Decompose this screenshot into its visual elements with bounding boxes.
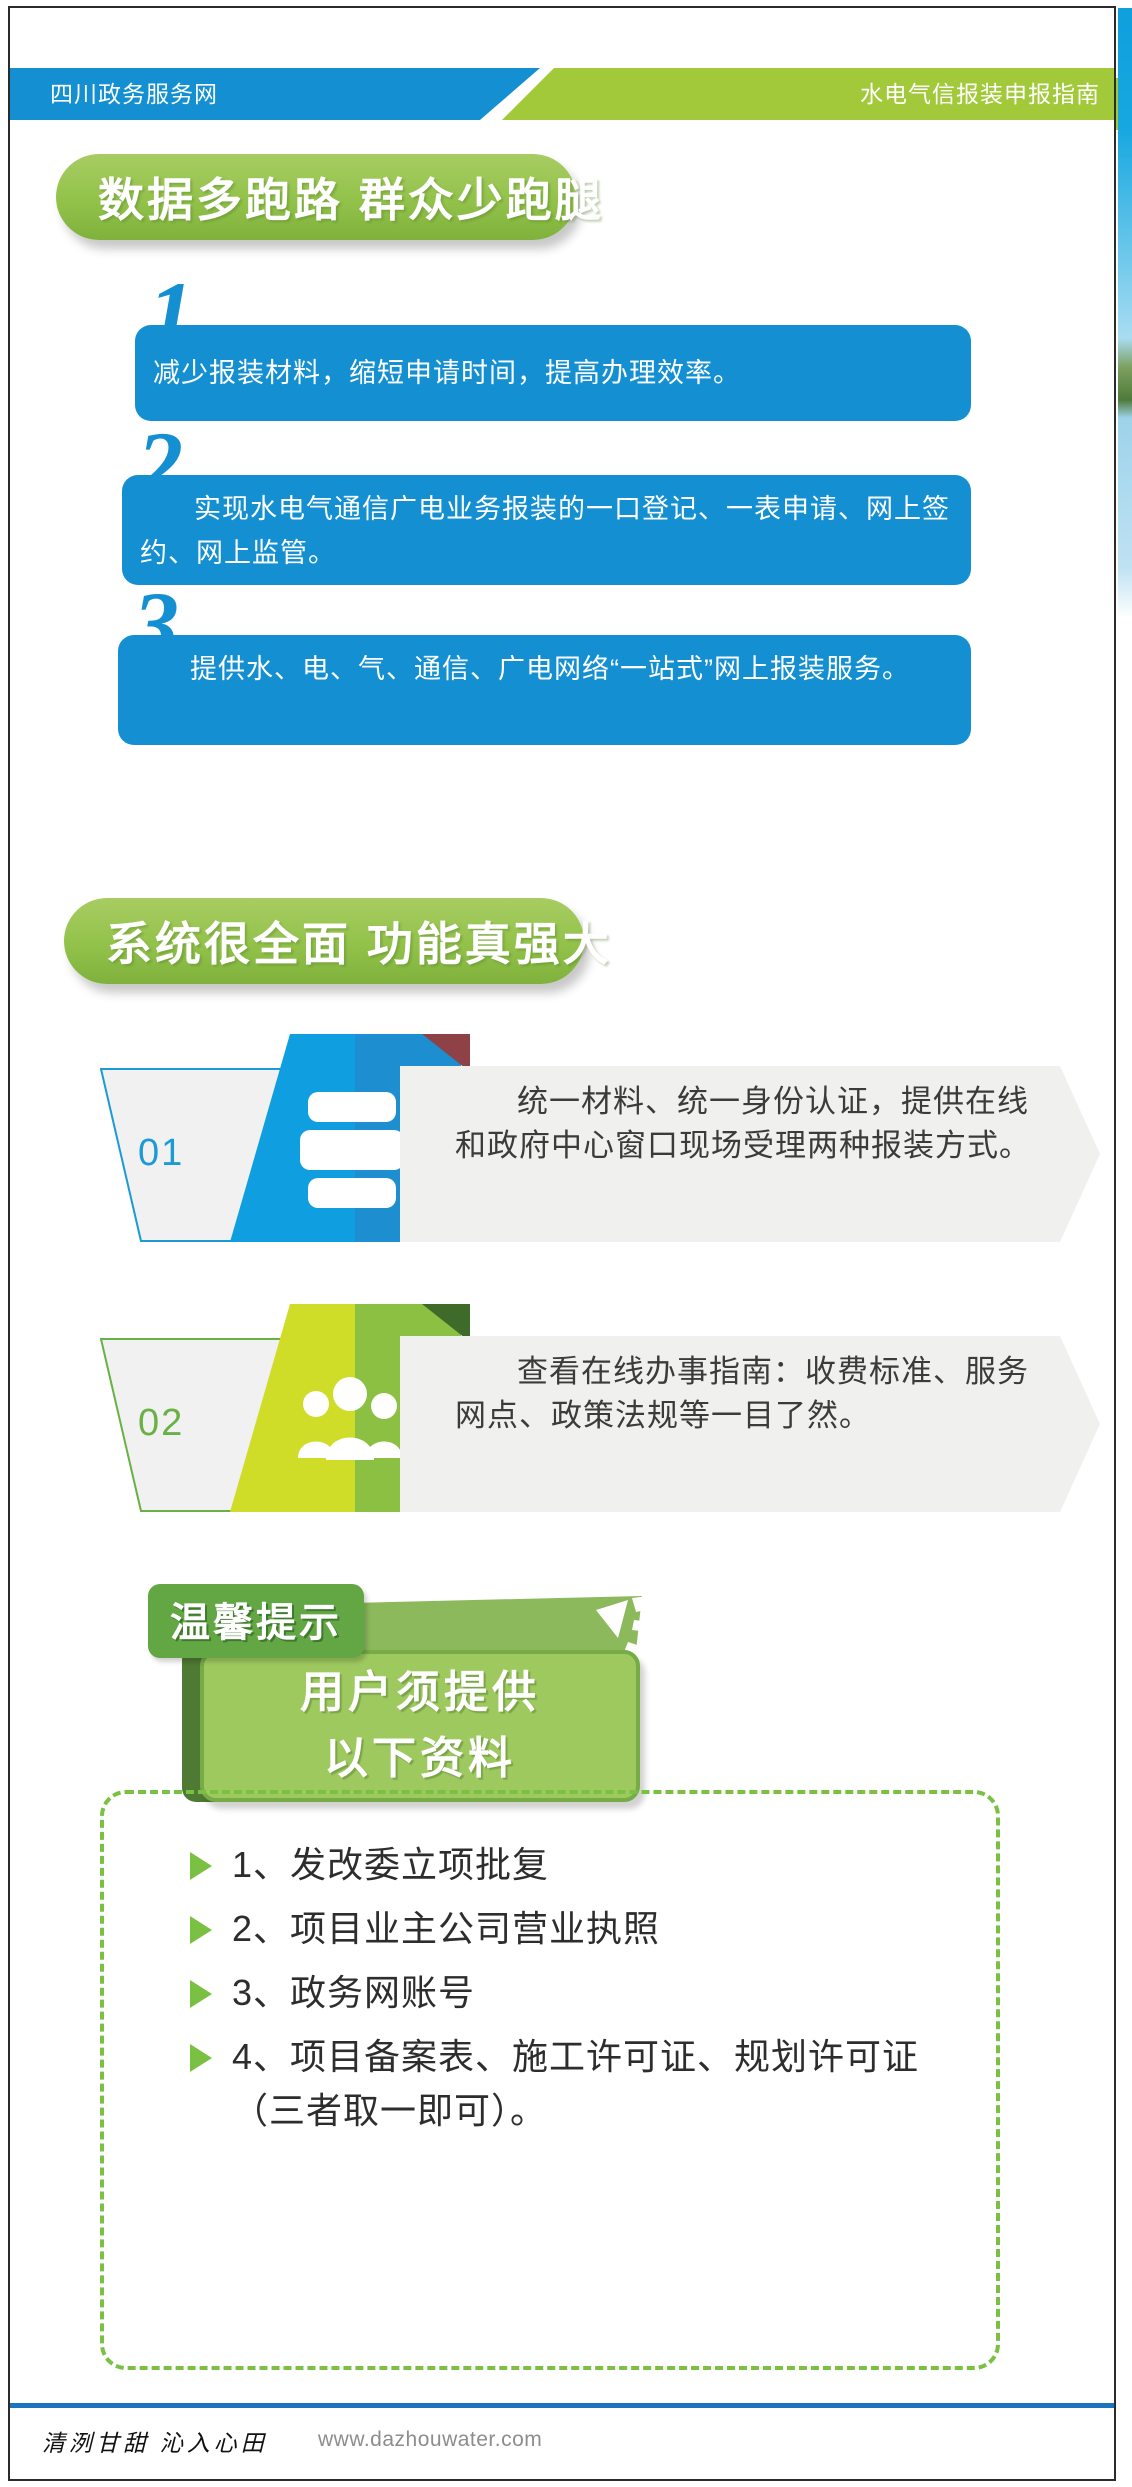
adjacent-page-sliver — [1118, 8, 1132, 768]
section-two-heading-text: 系统很全面 功能真强大 — [64, 908, 612, 974]
requirements-list: 1、发改委立项批复 2、项目业主公司营业执照 3、政务网账号 4、项目备案表、施… — [190, 1838, 980, 2148]
list-item: 1、发改委立项批复 — [190, 1838, 980, 1892]
stacked-bars-icon — [292, 1092, 412, 1210]
bullet-arrow-icon — [190, 1980, 212, 2008]
feature-box-1: 减少报装材料，缩短申请时间，提高办理效率。 — [135, 325, 971, 421]
section-two-heading: 系统很全面 功能真强大 — [64, 898, 584, 984]
tip-panel: 用户须提供 以下资料 — [200, 1650, 640, 1802]
card-02-text: 查看在线办事指南：收费标准、服务网点、政策法规等一目了然。 — [455, 1350, 1035, 1438]
header-site-name: 四川政务服务网 — [50, 68, 218, 120]
feature-box-2: 实现水电气通信广电业务报装的一口登记、一表申请、网上签约、网上监管。 — [122, 475, 971, 585]
section-one-heading: 数据多跑路 群众少跑腿 — [56, 154, 576, 240]
list-item: 2、项目业主公司营业执照 — [190, 1902, 980, 1956]
header-guide-title: 水电气信报装申报指南 — [860, 68, 1100, 120]
people-group-icon — [296, 1374, 406, 1460]
tip-badge-text: 温馨提示 — [170, 1590, 342, 1648]
card-02-number: 02 — [138, 1402, 184, 1445]
bullet-arrow-icon — [190, 1916, 212, 1944]
tip-headline-line2: 以下资料 — [204, 1720, 636, 1786]
bullet-arrow-icon — [190, 2044, 212, 2072]
requirement-text: 4、项目备案表、施工许可证、规划许可证（三者取一即可）。 — [232, 2030, 980, 2138]
feature-box-2-text: 实现水电气通信广电业务报装的一口登记、一表申请、网上签约、网上监管。 — [122, 475, 971, 575]
footer-website-url: www.dazhouwater.com — [318, 2428, 542, 2452]
list-item: 3、政务网账号 — [190, 1966, 980, 2020]
card-01-number: 01 — [138, 1132, 184, 1175]
footer-divider — [10, 2403, 1114, 2408]
feature-box-3: 提供水、电、气、通信、广电网络“一站式”网上报装服务。 — [118, 635, 971, 745]
bullet-arrow-icon — [190, 1852, 212, 1880]
feature-box-3-text: 提供水、电、气、通信、广电网络“一站式”网上报装服务。 — [118, 635, 971, 691]
list-item: 4、项目备案表、施工许可证、规划许可证（三者取一即可）。 — [190, 2030, 980, 2138]
card-01-text: 统一材料、统一身份认证，提供在线和政府中心窗口现场受理两种报装方式。 — [455, 1080, 1035, 1168]
section-one-heading-text: 数据多跑路 群众少跑腿 — [56, 164, 604, 230]
page-header-bar: 四川政务服务网 水电气信报装申报指南 — [10, 68, 1114, 120]
feature-card-02: 02 查看在线办事指南：收费标准、服务网点、政策法规等一目了然。 — [100, 1300, 1100, 1512]
footer-slogan: 清洌甘甜 沁入心田 — [42, 2424, 268, 2458]
tip-badge: 温馨提示 — [148, 1584, 364, 1658]
feature-card-01: 01 统一材料、统一身份认证，提供在线和政府中心窗口现场受理两种报装方式。 — [100, 1030, 1100, 1242]
requirement-text: 3、政务网账号 — [232, 1966, 475, 2020]
requirement-text: 1、发改委立项批复 — [232, 1838, 549, 1892]
feature-box-1-text: 减少报装材料，缩短申请时间，提高办理效率。 — [135, 325, 971, 395]
requirement-text: 2、项目业主公司营业执照 — [232, 1902, 660, 1956]
tip-headline-line1: 用户须提供 — [204, 1654, 636, 1720]
poster-page: 四川政务服务网 水电气信报装申报指南 数据多跑路 群众少跑腿 1 减少报装材料，… — [0, 0, 1132, 2487]
